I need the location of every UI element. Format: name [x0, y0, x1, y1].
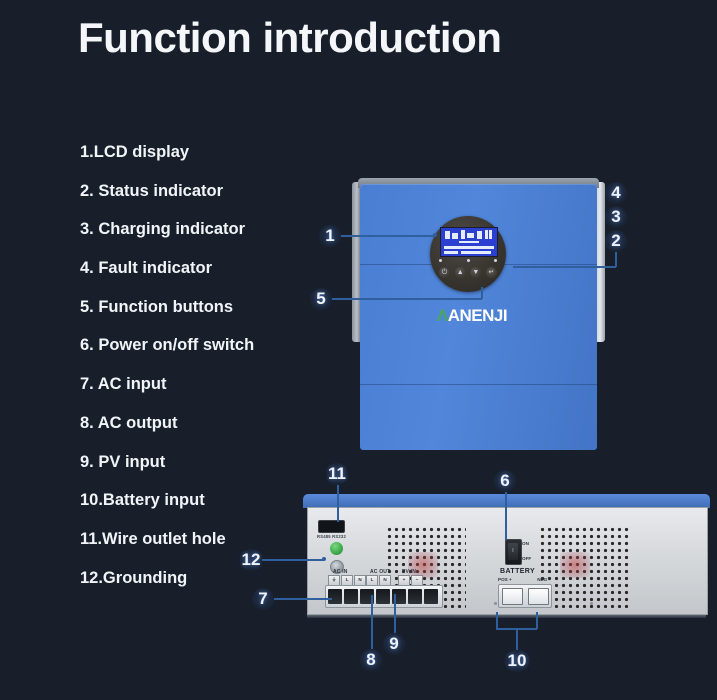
battery-terminal-block [498, 584, 552, 608]
panel-screw [590, 602, 593, 605]
callout-1-anchor [433, 233, 437, 237]
led-indicator-row [439, 257, 497, 264]
callout-9-leader [394, 594, 396, 633]
pv-in-pins: + − [398, 575, 423, 584]
list-item: 2. Status indicator [80, 183, 310, 200]
callout-12: 12 [240, 549, 262, 571]
callout-12-anchor [322, 557, 326, 561]
list-item: 9. PV input [80, 454, 310, 471]
battery-polarity-labels: POS + NEG - [498, 577, 550, 582]
indicator-led-green [330, 542, 343, 555]
battery-negative-label: NEG - [537, 577, 550, 582]
callout-10: 10 [504, 650, 530, 672]
front-unit-illustration: ⏻ ▲ ▼ ↵ ΛANENJI [352, 178, 605, 450]
callout-1-leader [341, 235, 435, 237]
list-item: 4. Fault indicator [80, 260, 310, 277]
power-button[interactable]: ⏻ [439, 267, 450, 278]
callout-11-leader [337, 485, 339, 522]
charging-led [467, 259, 470, 262]
callout-11: 11 [326, 463, 348, 485]
list-item: 5. Function buttons [80, 299, 310, 316]
feature-list: 1.LCD display 2. Status indicator 3. Cha… [80, 144, 310, 608]
comm-port-label: RS485 RS232 [317, 534, 346, 539]
switch-on-label: ON [522, 541, 529, 546]
callout-9: 9 [383, 633, 405, 655]
callout-2-leader-v [615, 252, 617, 267]
connector-slot [344, 589, 358, 604]
function-button-row: ⏻ ▲ ▼ ↵ [439, 267, 497, 285]
ac-out-pins: L N [366, 575, 391, 584]
callout-5-leader-h [332, 298, 482, 300]
battery-positive-label: POS + [498, 577, 512, 582]
lcd-display [440, 227, 498, 257]
heatsink-fin-right [596, 182, 605, 342]
list-item: 10.Battery input [80, 492, 310, 509]
status-led [439, 259, 442, 262]
callout-7: 7 [252, 588, 274, 610]
callout-6-leader [505, 492, 507, 540]
callout-6: 6 [494, 470, 516, 492]
callout-10-leader-v [516, 628, 518, 650]
wire-outlet-hole [318, 520, 345, 533]
vent-interior-right [560, 552, 590, 578]
callout-10-branch-right [536, 612, 538, 629]
list-item: 7. AC input [80, 376, 310, 393]
ac-in-pins: ⏚ L N [328, 575, 366, 584]
rear-panel-face: RS485 RS232 ⏚ AC IN AC OUT PV IN ⏚ L N L… [307, 507, 708, 615]
callout-5: 5 [310, 288, 332, 310]
callout-10-bracket [496, 628, 537, 630]
brand-name: ANENJI [448, 306, 507, 325]
up-button[interactable]: ▲ [455, 267, 466, 278]
terminal-connector-block [325, 585, 443, 608]
callout-7-leader [274, 598, 332, 600]
connector-slot [328, 589, 342, 604]
battery-section-label: BATTERY [500, 568, 535, 575]
list-item: 11.Wire outlet hole [80, 531, 310, 548]
brand-mark-icon: Λ [437, 306, 448, 325]
callout-2-leader-h [513, 266, 616, 268]
list-item: 12.Grounding [80, 570, 310, 587]
connector-slot [424, 589, 438, 604]
battery-port-positive [502, 588, 523, 605]
callout-2: 2 [605, 230, 627, 252]
list-item: 1.LCD display [80, 144, 310, 161]
page-title: Function introduction [78, 14, 501, 62]
switch-off-label: OFF [522, 556, 531, 561]
callout-8: 8 [360, 649, 382, 671]
battery-port-negative [528, 588, 549, 605]
body-seam [360, 384, 597, 385]
list-item: 8. AC output [80, 415, 310, 432]
function-introduction-page: Function introduction 1.LCD display 2. S… [0, 0, 717, 700]
callout-4: 4 [605, 182, 627, 204]
switch-rocker[interactable]: I [508, 543, 518, 560]
callout-8-leader [371, 595, 373, 649]
power-on-off-switch[interactable]: I [505, 539, 522, 565]
enter-button[interactable]: ↵ [486, 267, 497, 278]
down-button[interactable]: ▼ [470, 267, 481, 278]
brand-logo: ΛANENJI [422, 306, 522, 326]
connector-slot [376, 589, 390, 604]
callout-12-leader [262, 559, 324, 561]
callout-3: 3 [605, 206, 627, 228]
callout-1: 1 [319, 225, 341, 247]
list-item: 3. Charging indicator [80, 221, 310, 238]
callout-5-leader-v [481, 287, 483, 299]
control-panel: ⏻ ▲ ▼ ↵ [430, 216, 506, 292]
list-item: 6. Power on/off switch [80, 337, 310, 354]
callout-10-branch-left [496, 612, 498, 629]
connector-slot [408, 589, 422, 604]
fault-led [494, 259, 497, 262]
panel-screw [494, 602, 497, 605]
